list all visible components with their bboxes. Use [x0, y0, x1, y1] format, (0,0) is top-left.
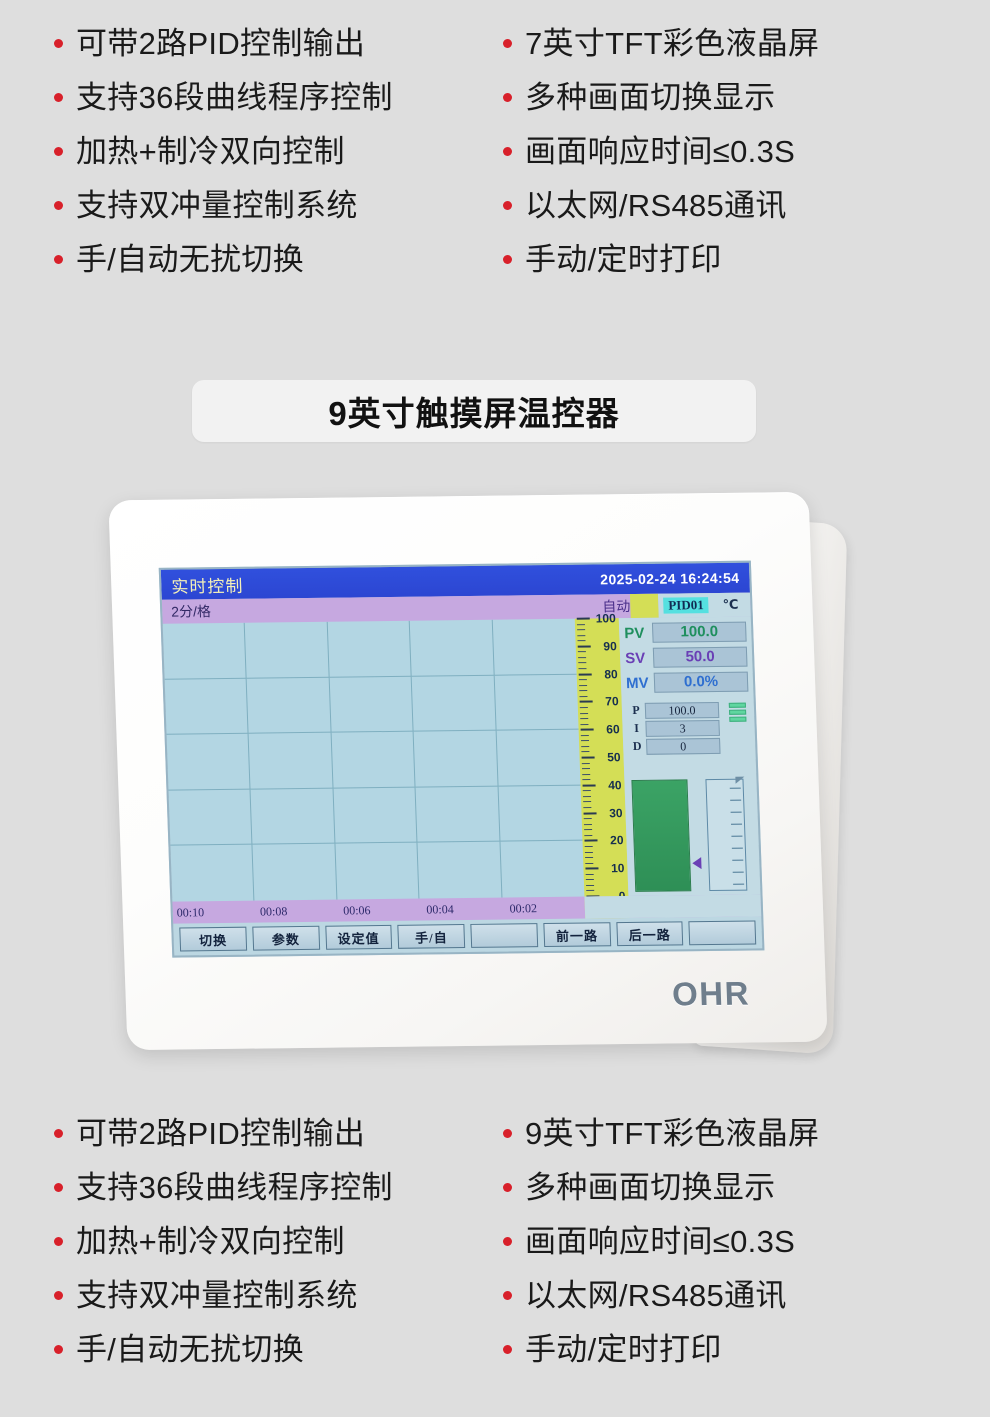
grid-cell — [496, 730, 580, 787]
feature-item: 可带2路PID控制输出 — [54, 28, 495, 82]
slider-tick — [732, 860, 743, 861]
slider-tick — [730, 788, 741, 789]
readout-value-pv[interactable]: 100.0 — [652, 622, 747, 643]
readout-key: PV — [624, 624, 653, 641]
axis-minor-tick — [579, 690, 587, 691]
axis-minor-tick — [579, 685, 587, 686]
led-indicator — [729, 717, 746, 722]
axis-minor-tick — [578, 651, 586, 652]
grid-cell — [168, 789, 252, 846]
axis-minor-tick — [578, 668, 586, 669]
feature-column-right: 9英寸TFT彩色液晶屏 多种画面切换显示 画面响应时间≤0.3S 以太网/RS4… — [495, 1118, 954, 1388]
readout-row: PV 100.0 — [624, 621, 747, 644]
feature-item: 加热+制冷双向控制 — [54, 136, 495, 190]
constant-key: I — [627, 721, 646, 736]
time-axis-label: 00:10 — [177, 905, 205, 920]
feature-item: 支持双冲量控制系统 — [54, 1280, 495, 1334]
bullet-icon — [503, 147, 512, 156]
grid-cell — [500, 841, 584, 898]
bullet-icon — [503, 255, 512, 264]
feature-item: 画面响应时间≤0.3S — [503, 136, 954, 190]
bullet-icon — [503, 1129, 512, 1138]
axis-minor-tick — [585, 846, 593, 847]
bullet-icon — [54, 1291, 63, 1300]
button-blank-2[interactable] — [689, 920, 757, 945]
feature-label: 手/自动无扰切换 — [76, 1334, 304, 1365]
feature-item: 9英寸TFT彩色液晶屏 — [503, 1118, 954, 1172]
device-image: 实时控制 2025-02-24 16:24:54 2分/格 自动 PID01 ℃ — [0, 478, 990, 1078]
time-axis-label: 00:04 — [426, 902, 454, 917]
feature-item: 支持36段曲线程序控制 — [54, 82, 495, 136]
led-indicator — [729, 710, 746, 715]
axis-minor-tick — [584, 818, 592, 819]
feature-item: 支持36段曲线程序控制 — [54, 1172, 495, 1226]
axis-tick-label: 60 — [606, 723, 620, 735]
pid-constants: P 100.0 I 3 D 0 — [627, 701, 751, 755]
button-manual-auto[interactable]: 手/自 — [398, 924, 466, 949]
feature-list-bottom: 可带2路PID控制输出 支持36段曲线程序控制 加热+制冷双向控制 支持双冲量控… — [0, 1118, 990, 1388]
slider-tick — [730, 800, 741, 801]
grid-cell — [418, 842, 502, 899]
button-setpoint[interactable]: 设定值 — [325, 925, 393, 950]
grid-cell — [165, 678, 249, 735]
feature-label: 画面响应时间≤0.3S — [525, 136, 795, 167]
feature-item: 7英寸TFT彩色液晶屏 — [503, 28, 954, 82]
feature-label: 多种画面切换显示 — [525, 82, 775, 113]
axis-tick-label: 40 — [608, 779, 622, 791]
axis-minor-tick — [580, 718, 588, 719]
bullet-icon — [503, 201, 512, 210]
feature-label: 支持双冲量控制系统 — [76, 190, 358, 221]
output-bar-area — [631, 775, 755, 892]
constant-value-p[interactable]: 100.0 — [645, 701, 720, 718]
readout-value-sv[interactable]: 50.0 — [653, 647, 748, 668]
feature-label: 加热+制冷双向控制 — [76, 1226, 345, 1257]
bullet-icon — [54, 201, 63, 210]
feature-item: 加热+制冷双向控制 — [54, 1226, 495, 1280]
axis-tick-label: 90 — [603, 640, 617, 652]
grid-cell — [249, 733, 333, 790]
led-indicator — [729, 703, 746, 708]
feature-label: 手动/定时打印 — [525, 1334, 722, 1365]
axis-tick-mark — [580, 701, 593, 703]
axis-minor-tick — [578, 657, 586, 658]
axis-minor-tick — [583, 796, 591, 797]
readout-value-mv[interactable]: 0.0% — [654, 672, 749, 693]
time-axis-label: 00:08 — [260, 904, 288, 919]
button-blank-1[interactable] — [470, 923, 538, 948]
brand-logo: OHR — [671, 975, 750, 1014]
axis-minor-tick — [586, 890, 594, 891]
feature-item: 可带2路PID控制输出 — [54, 1118, 495, 1172]
feature-label: 加热+制冷双向控制 — [76, 136, 345, 167]
axis-tick-label: 10 — [611, 862, 625, 874]
axis-tick-label: 20 — [610, 834, 624, 846]
screen-datetime: 2025-02-24 16:24:54 — [600, 570, 740, 588]
panel-header: PID01 ℃ — [658, 593, 751, 618]
axis-minor-tick — [581, 746, 589, 747]
grid-cell — [492, 619, 576, 676]
grid-cell — [498, 785, 582, 842]
grid-cell — [167, 734, 251, 791]
feature-label: 可带2路PID控制输出 — [76, 1118, 365, 1149]
bullet-icon — [503, 1237, 512, 1246]
axis-minor-tick — [586, 879, 594, 880]
axis-minor-tick — [582, 768, 590, 769]
feature-item: 手/自动无扰切换 — [54, 244, 495, 298]
axis-tick-mark — [585, 868, 598, 870]
axis-minor-tick — [577, 635, 585, 636]
axis-minor-tick — [585, 863, 593, 864]
axis-minor-tick — [580, 724, 588, 725]
grid-cell — [335, 843, 419, 900]
slider-knob-icon[interactable] — [735, 777, 744, 784]
axis-minor-tick — [583, 790, 591, 791]
axis-tick-mark — [584, 812, 597, 814]
feature-label: 9英寸TFT彩色液晶屏 — [525, 1118, 819, 1149]
feature-label: 手/自动无扰切换 — [76, 244, 304, 275]
grid-cell — [414, 731, 498, 788]
time-axis-right-pad — [584, 894, 761, 918]
grid-cell — [245, 622, 329, 679]
axis-minor-tick — [580, 707, 588, 708]
constant-key: D — [628, 739, 647, 754]
bullet-icon — [503, 1183, 512, 1192]
axis-minor-tick — [582, 763, 590, 764]
feature-item: 支持双冲量控制系统 — [54, 190, 495, 244]
axis-minor-tick — [578, 663, 586, 664]
screen-title: 实时控制 — [171, 571, 244, 597]
axis-minor-tick — [583, 807, 591, 808]
grid-cell — [251, 788, 335, 845]
feature-item: 以太网/RS485通讯 — [503, 190, 954, 244]
setpoint-marker-icon — [692, 857, 701, 869]
axis-tick-label: 50 — [607, 751, 621, 763]
readout-row: MV 0.0% — [626, 671, 749, 694]
page-title: 9英寸触摸屏温控器 — [328, 387, 619, 435]
axis-minor-tick — [585, 857, 593, 858]
constant-value-d[interactable]: 0 — [646, 737, 721, 754]
feature-label: 多种画面切换显示 — [525, 1172, 775, 1203]
axis-minor-tick — [582, 779, 590, 780]
axis-minor-tick — [579, 679, 587, 680]
device-front-bezel: 实时控制 2025-02-24 16:24:54 2分/格 自动 PID01 ℃ — [108, 492, 827, 1050]
constant-key: P — [627, 703, 646, 718]
feature-label: 手动/定时打印 — [525, 244, 722, 275]
feature-label: 以太网/RS485通讯 — [525, 1280, 787, 1311]
bullet-icon — [54, 147, 63, 156]
grid-cell — [331, 732, 415, 789]
axis-minor-tick — [578, 640, 586, 641]
bullet-icon — [503, 1345, 512, 1354]
feature-label: 支持双冲量控制系统 — [76, 1280, 358, 1311]
feature-item: 画面响应时间≤0.3S — [503, 1226, 954, 1280]
pid-control-panel: PV 100.0 SV 50.0 MV 0.0% P 100.0 — [619, 617, 761, 896]
button-switch[interactable]: 切换 — [179, 927, 247, 952]
bullet-icon — [54, 1345, 63, 1354]
grid-cell — [328, 621, 412, 678]
output-level-bar — [631, 779, 691, 892]
grid-cell — [333, 787, 417, 844]
axis-minor-tick — [581, 740, 589, 741]
slider-tick — [733, 884, 744, 885]
axis-minor-tick — [583, 801, 591, 802]
axis-tick-label: 100 — [596, 612, 616, 624]
feature-item: 以太网/RS485通讯 — [503, 1280, 954, 1334]
axis-minor-tick — [582, 774, 590, 775]
axis-minor-tick — [586, 874, 594, 875]
button-previous-channel[interactable]: 前一路 — [543, 922, 611, 947]
axis-tick-mark — [577, 618, 590, 620]
feature-label: 支持36段曲线程序控制 — [76, 82, 393, 113]
bullet-icon — [54, 39, 63, 48]
feature-column-left: 可带2路PID控制输出 支持36段曲线程序控制 加热+制冷双向控制 支持双冲量控… — [36, 28, 495, 298]
feature-item: 手/自动无扰切换 — [54, 1334, 495, 1388]
axis-minor-tick — [579, 696, 587, 697]
axis-minor-tick — [581, 751, 589, 752]
bullet-icon — [503, 1291, 512, 1300]
axis-minor-tick — [584, 824, 592, 825]
feature-label: 画面响应时间≤0.3S — [525, 1226, 795, 1257]
axis-minor-tick — [577, 629, 585, 630]
feature-label: 以太网/RS485通讯 — [525, 190, 787, 221]
bullet-icon — [54, 93, 63, 102]
slider-tick — [731, 812, 742, 813]
constant-value-i[interactable]: 3 — [645, 719, 720, 736]
grid-cell — [163, 623, 247, 680]
readout-key: SV — [625, 649, 654, 666]
constant-row: D 0 — [628, 737, 751, 755]
axis-tick-label: 70 — [605, 696, 619, 708]
slider-tick — [731, 836, 742, 837]
feature-list-top: 可带2路PID控制输出 支持36段曲线程序控制 加热+制冷双向控制 支持双冲量控… — [0, 28, 990, 298]
axis-tick-label: 30 — [609, 807, 623, 819]
output-slider[interactable] — [705, 779, 747, 891]
time-axis-label: 00:06 — [343, 903, 371, 918]
slider-tick — [733, 872, 744, 873]
feature-item: 手动/定时打印 — [503, 244, 954, 298]
slider-tick — [731, 824, 742, 825]
axis-minor-tick — [584, 829, 592, 830]
time-axis-label: 00:02 — [509, 901, 537, 916]
grid-cell — [416, 786, 500, 843]
screen-body: 0102030405060708090100 PV 100.0 SV 50.0 … — [163, 617, 761, 902]
axis-minor-tick — [586, 885, 594, 886]
axis-tick-mark — [582, 756, 595, 758]
axis-minor-tick — [577, 624, 585, 625]
axis-tick-mark — [581, 729, 594, 731]
feature-label: 7英寸TFT彩色液晶屏 — [525, 28, 819, 59]
grid-cell — [329, 676, 413, 733]
grid-cell — [410, 620, 494, 677]
feature-label: 支持36段曲线程序控制 — [76, 1172, 393, 1203]
bullet-icon — [503, 93, 512, 102]
bullet-icon — [54, 255, 63, 264]
axis-strip-header — [630, 594, 659, 618]
feature-label: 可带2路PID控制输出 — [76, 28, 365, 59]
time-scale-label: 2分/格 — [162, 601, 211, 622]
button-next-channel[interactable]: 后一路 — [616, 921, 684, 946]
product-title-banner: 9英寸触摸屏温控器 — [192, 380, 756, 442]
bullet-icon — [503, 39, 512, 48]
grid-cell — [412, 675, 496, 732]
axis-tick-mark — [579, 673, 592, 675]
trend-chart-plot[interactable] — [163, 619, 585, 902]
output-indicator-leds — [729, 703, 747, 722]
axis-minor-tick — [580, 713, 588, 714]
bullet-icon — [54, 1183, 63, 1192]
grid-cell — [247, 677, 331, 734]
lcd-screen: 实时控制 2025-02-24 16:24:54 2分/格 自动 PID01 ℃ — [159, 561, 765, 958]
axis-tick-label: 80 — [604, 668, 618, 680]
feature-column-right: 7英寸TFT彩色液晶屏 多种画面切换显示 画面响应时间≤0.3S 以太网/RS4… — [495, 28, 954, 298]
unit-label: ℃ — [722, 597, 738, 613]
button-parameters[interactable]: 参数 — [252, 926, 320, 951]
feature-item: 手动/定时打印 — [503, 1334, 954, 1388]
axis-minor-tick — [581, 735, 589, 736]
feature-column-left: 可带2路PID控制输出 支持36段曲线程序控制 加热+制冷双向控制 支持双冲量控… — [36, 1118, 495, 1388]
axis-tick-mark — [584, 840, 597, 842]
axis-minor-tick — [585, 851, 593, 852]
feature-item: 多种画面切换显示 — [503, 1172, 954, 1226]
grid-cell — [170, 845, 254, 902]
readout-row: SV 50.0 — [625, 646, 748, 669]
axis-minor-tick — [584, 835, 592, 836]
readout-key: MV — [626, 674, 655, 691]
channel-tag[interactable]: PID01 — [663, 597, 709, 614]
grid-cell — [253, 844, 337, 901]
axis-tick-mark — [583, 784, 596, 786]
slider-tick — [732, 848, 743, 849]
axis-tick-mark — [578, 645, 591, 647]
bullet-icon — [54, 1237, 63, 1246]
grid-cell — [494, 674, 578, 731]
feature-item: 多种画面切换显示 — [503, 82, 954, 136]
bullet-icon — [54, 1129, 63, 1138]
